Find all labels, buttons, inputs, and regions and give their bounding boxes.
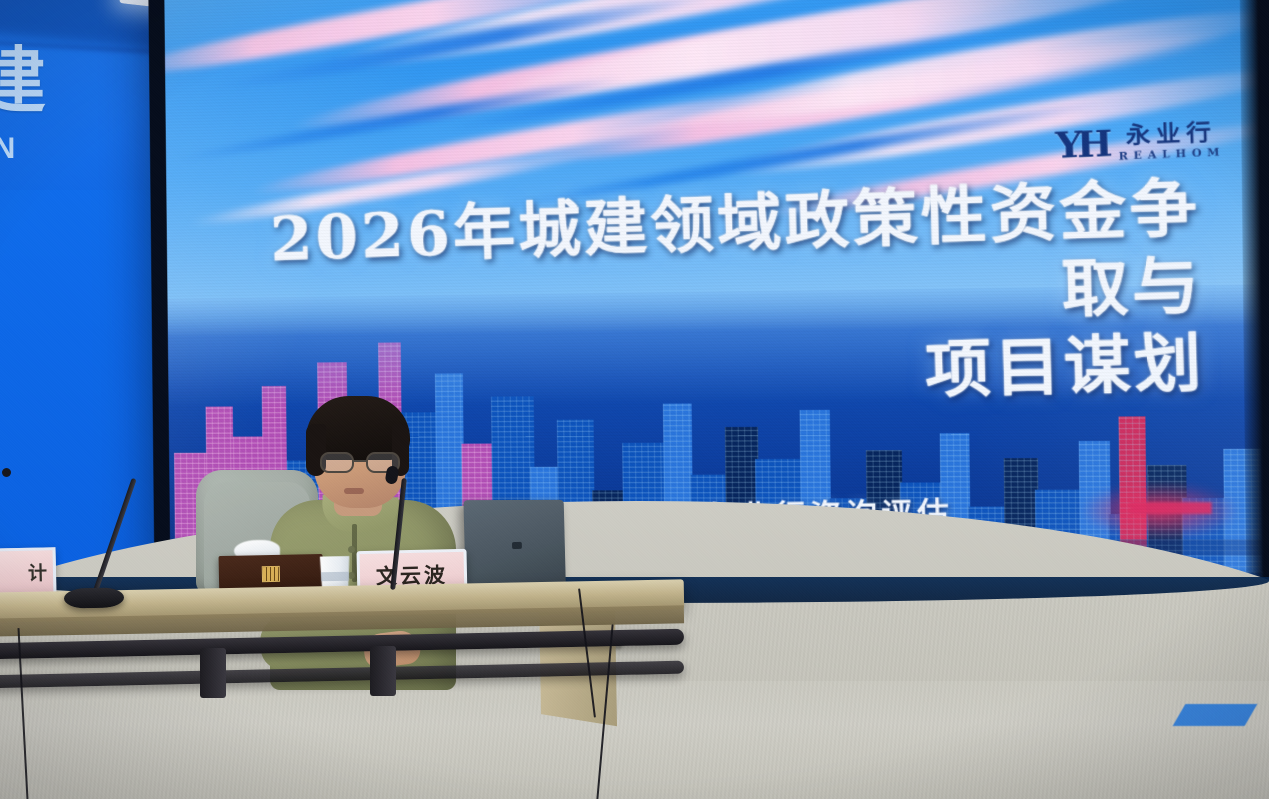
slide-brand-logo: YH 永业行 REALHOM <box>1055 118 1226 167</box>
shirt-button <box>348 546 355 553</box>
desk-leg <box>370 646 396 696</box>
microphone-tip <box>2 468 11 477</box>
laptop-icon[interactable] <box>463 500 566 595</box>
brand-monogram: YH <box>1055 123 1108 167</box>
brand-chinese-name: 永业行 <box>1125 121 1217 148</box>
name-plate-left-text: 计 <box>28 558 50 585</box>
wall-logo-sub: AN <box>0 132 64 166</box>
brand-english-name: REALHOM <box>1118 148 1225 163</box>
person-mouth <box>344 488 364 494</box>
slide-title: 2026年城建领域政策性资金争取与 项目谋划 <box>216 170 1206 426</box>
microphone-base[interactable] <box>64 587 124 608</box>
cup-band <box>321 572 349 581</box>
floor-accent-tile <box>1173 704 1258 726</box>
lens-left <box>320 452 354 473</box>
wall-brand-logo: 建 AN <box>0 42 64 192</box>
box-emblem-icon <box>262 566 280 582</box>
wall-logo-mark: 建 <box>0 42 64 120</box>
accent-glow <box>1130 502 1211 514</box>
name-plate-left: 计 <box>0 547 56 597</box>
conference-room-scene: 建 AN 智 <box>0 0 1269 799</box>
shirt-button <box>348 572 355 579</box>
desk-leg <box>200 648 226 698</box>
